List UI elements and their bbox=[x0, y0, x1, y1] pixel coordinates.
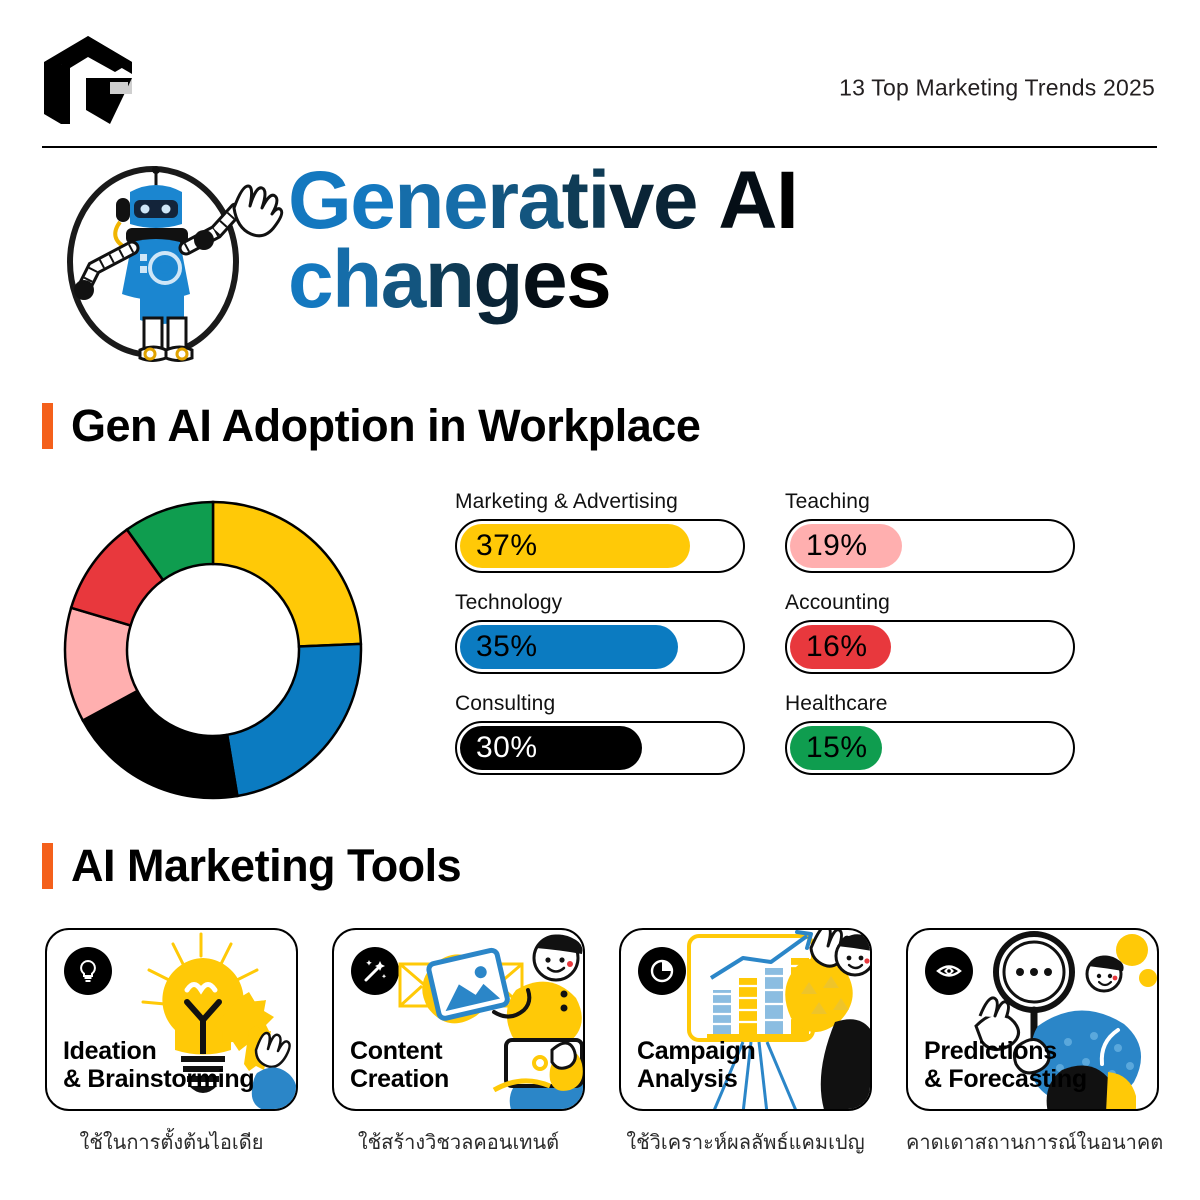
bar-track[interactable]: 15% bbox=[785, 721, 1075, 775]
accent-bar-icon bbox=[42, 403, 53, 449]
tool-card-title-line-1: Campaign bbox=[637, 1037, 755, 1065]
tool-card-list: Ideation & Brainstorming bbox=[45, 928, 1160, 1113]
donut-segment bbox=[227, 644, 361, 796]
header-divider bbox=[42, 146, 1157, 148]
bar-track[interactable]: 30% bbox=[455, 721, 745, 775]
eye-icon bbox=[925, 947, 973, 995]
hero-title-line-2: changes bbox=[288, 241, 1048, 320]
hexagon-g-logo-icon bbox=[40, 32, 136, 128]
hero-title: Generative AI changes bbox=[288, 162, 1048, 319]
tool-card-title: Content Creation bbox=[350, 1037, 449, 1093]
tool-card-title-line-2: Creation bbox=[350, 1065, 449, 1093]
accent-bar-icon bbox=[42, 843, 53, 889]
bar-item-1[interactable]: Technology 35% bbox=[455, 591, 745, 674]
bar-fill: 15% bbox=[790, 726, 882, 770]
bar-value: 35% bbox=[460, 630, 538, 664]
bar-fill: 16% bbox=[790, 625, 891, 669]
bar-label: Accounting bbox=[785, 591, 1075, 615]
tool-card-ideation[interactable]: Ideation & Brainstorming bbox=[45, 928, 298, 1111]
tool-caption-list: ใช้ในการตั้งต้นไอเดีย ใช้สร้างวิชวลคอนเท… bbox=[45, 1126, 1160, 1170]
tool-card-title-line-2: & Brainstorming bbox=[63, 1065, 254, 1093]
bar-value: 30% bbox=[460, 731, 538, 765]
bar-fill: 35% bbox=[460, 625, 678, 669]
robot-in-circle-icon bbox=[48, 162, 288, 362]
lightbulb-icon bbox=[64, 947, 112, 995]
bar-item-3[interactable]: Teaching 19% bbox=[785, 490, 1075, 573]
donut-chart bbox=[58, 495, 368, 805]
tool-card-title-line-1: Predictions bbox=[924, 1037, 1087, 1065]
bar-label: Healthcare bbox=[785, 692, 1075, 716]
bar-item-2[interactable]: Consulting 30% bbox=[455, 692, 745, 775]
tool-caption-0: ใช้ในการตั้งต้นไอเดีย bbox=[45, 1126, 298, 1158]
page-header: 13 Top Marketing Trends 2025 bbox=[0, 0, 1200, 146]
bar-item-5[interactable]: Healthcare 15% bbox=[785, 692, 1075, 775]
donut-segment bbox=[213, 502, 361, 646]
bar-track[interactable]: 37% bbox=[455, 519, 745, 573]
tool-card-title-line-2: Analysis bbox=[637, 1065, 755, 1093]
section-title-tools: AI Marketing Tools bbox=[71, 840, 461, 892]
tool-caption-2: ใช้วิเคราะห์ผลลัพธ์แคมเปญ bbox=[619, 1126, 872, 1158]
section-heading-tools: AI Marketing Tools bbox=[42, 840, 461, 892]
bar-value: 19% bbox=[790, 529, 868, 563]
bar-value: 37% bbox=[460, 529, 538, 563]
section-heading-adoption: Gen AI Adoption in Workplace bbox=[42, 400, 700, 452]
bar-label: Marketing & Advertising bbox=[455, 490, 745, 514]
tool-card-predictions[interactable]: Predictions & Forecasting bbox=[906, 928, 1159, 1111]
adoption-bar-list: Marketing & Advertising 37% Technology 3… bbox=[455, 490, 1155, 800]
magic-wand-icon bbox=[351, 947, 399, 995]
tool-caption-3: คาดเดาสถานการณ์ในอนาคต bbox=[906, 1126, 1159, 1158]
tool-card-title-line-1: Ideation bbox=[63, 1037, 254, 1065]
tool-card-title: Predictions & Forecasting bbox=[924, 1037, 1087, 1093]
bar-fill: 30% bbox=[460, 726, 642, 770]
hero-section: Generative AI changes bbox=[0, 150, 1200, 380]
bar-track[interactable]: 16% bbox=[785, 620, 1075, 674]
tool-card-title: Campaign Analysis bbox=[637, 1037, 755, 1093]
bar-item-4[interactable]: Accounting 16% bbox=[785, 591, 1075, 674]
bar-track[interactable]: 35% bbox=[455, 620, 745, 674]
tool-card-campaign-analysis[interactable]: Campaign Analysis bbox=[619, 928, 872, 1111]
bar-label: Consulting bbox=[455, 692, 745, 716]
bar-value: 16% bbox=[790, 630, 868, 664]
tool-card-title-line-2: & Forecasting bbox=[924, 1065, 1087, 1093]
hero-title-line-1: Generative AI bbox=[288, 162, 1048, 241]
tool-card-title-line-1: Content bbox=[350, 1037, 449, 1065]
tool-caption-1: ใช้สร้างวิชวลคอนเทนต์ bbox=[332, 1126, 585, 1158]
bar-label: Teaching bbox=[785, 490, 1075, 514]
bar-track[interactable]: 19% bbox=[785, 519, 1075, 573]
bar-value: 15% bbox=[790, 731, 868, 765]
tool-card-content-creation[interactable]: Content Creation bbox=[332, 928, 585, 1111]
header-title: 13 Top Marketing Trends 2025 bbox=[839, 75, 1155, 102]
pie-chart-icon bbox=[638, 947, 686, 995]
section-title-adoption: Gen AI Adoption in Workplace bbox=[71, 400, 700, 452]
bar-fill: 19% bbox=[790, 524, 902, 568]
tool-card-title: Ideation & Brainstorming bbox=[63, 1037, 254, 1093]
bar-item-0[interactable]: Marketing & Advertising 37% bbox=[455, 490, 745, 573]
bar-label: Technology bbox=[455, 591, 745, 615]
bar-fill: 37% bbox=[460, 524, 690, 568]
